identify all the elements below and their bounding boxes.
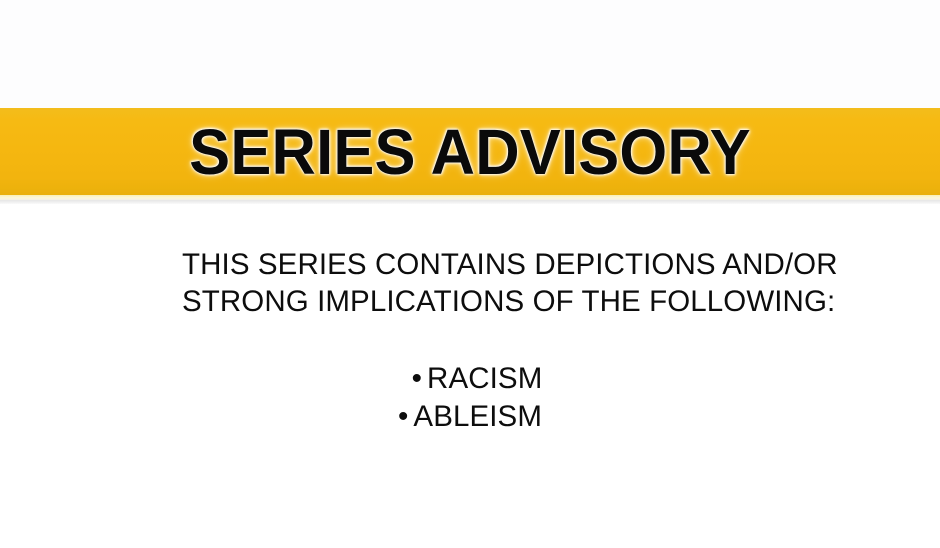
list-item-label: ABLEISM <box>413 400 542 433</box>
banner-shadow-rule <box>0 200 940 204</box>
bullet-icon: • <box>412 364 422 394</box>
page-title: SERIES ADVISORY <box>19 108 921 195</box>
list-item: •RACISM <box>0 360 940 398</box>
slide-upper-background <box>0 0 940 108</box>
list-item: •ABLEISM <box>0 398 940 436</box>
advisory-description-line-2: STRONG IMPLICATIONS OF THE FOLLOWING: <box>182 283 822 320</box>
advisory-description: THIS SERIES CONTAINS DEPICTIONS AND/OR S… <box>182 246 822 320</box>
advisory-description-line-1: THIS SERIES CONTAINS DEPICTIONS AND/OR <box>182 246 822 283</box>
list-item-label: RACISM <box>427 362 542 395</box>
bullet-icon: • <box>398 402 408 432</box>
series-advisory-slide: SERIES ADVISORY THIS SERIES CONTAINS DEP… <box>0 0 940 548</box>
advisory-topic-list: •RACISM •ABLEISM <box>0 360 940 436</box>
